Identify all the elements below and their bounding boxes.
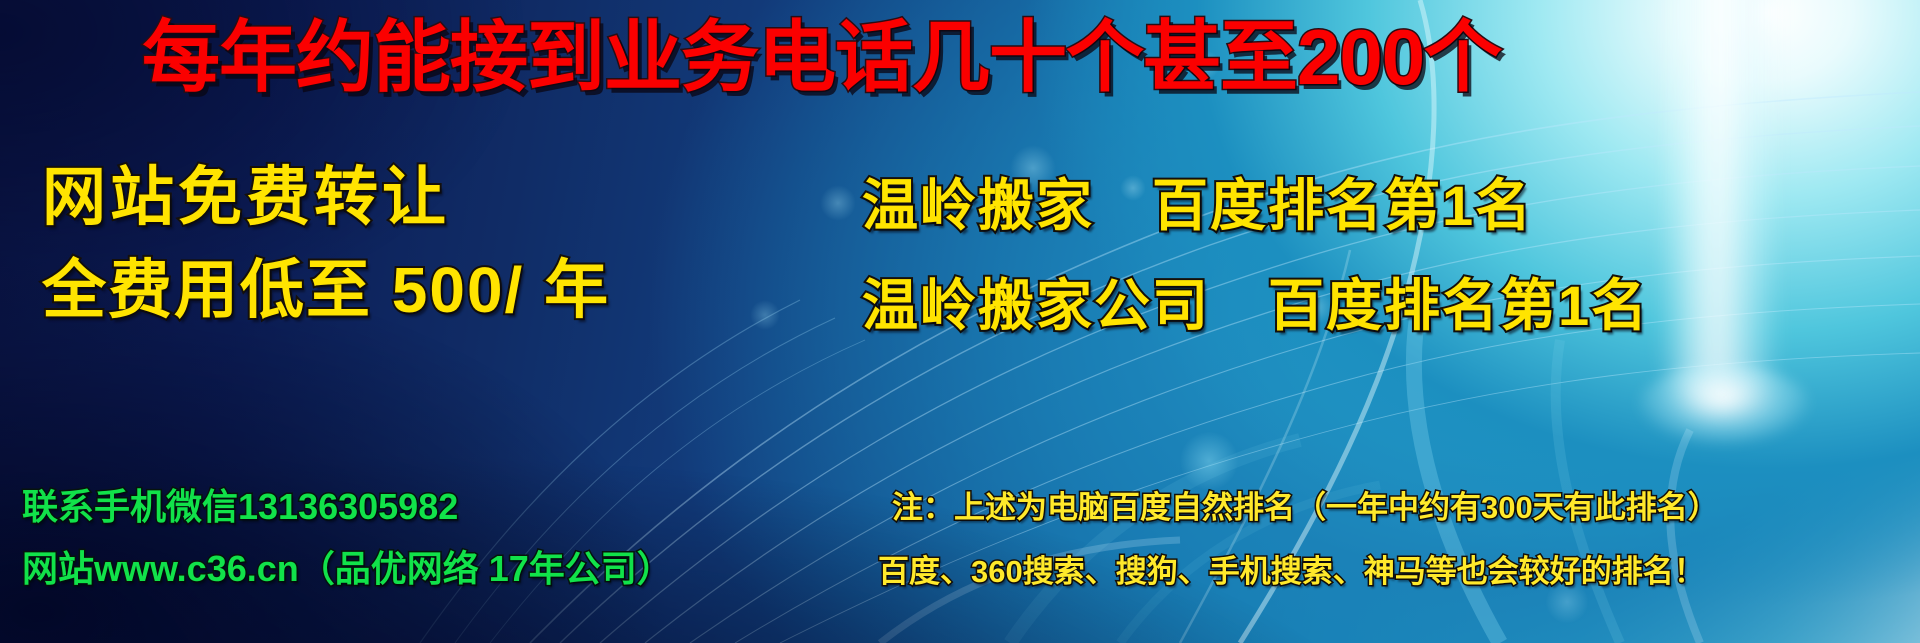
offer-line-2: 全费用低至 500/ 年 — [42, 258, 610, 322]
ranking-line-2: 温岭搬家公司 百度排名第1名 — [862, 278, 1649, 334]
offer-line-1: 网站免费转让 — [42, 165, 450, 229]
ranking-line-1: 温岭搬家 百度排名第1名 — [862, 178, 1533, 234]
contact-phone-wechat: 联系手机微信13136305982 — [22, 489, 458, 525]
contact-website: 网站www.c36.cn（品优网络 17年公司） — [22, 551, 673, 587]
page-title: 每年约能接到业务电话几十个甚至200个 — [142, 18, 1501, 96]
note-line-2: 百度、360搜索、搜狗、手机搜索、神马等也会较好的排名！ — [878, 556, 1705, 587]
note-line-1: 注：上述为电脑百度自然排名（一年中约有300天有此排名） — [892, 492, 1719, 523]
promo-banner: 每年约能接到业务电话几十个甚至200个 网站免费转让 全费用低至 500/ 年 … — [0, 0, 1920, 643]
